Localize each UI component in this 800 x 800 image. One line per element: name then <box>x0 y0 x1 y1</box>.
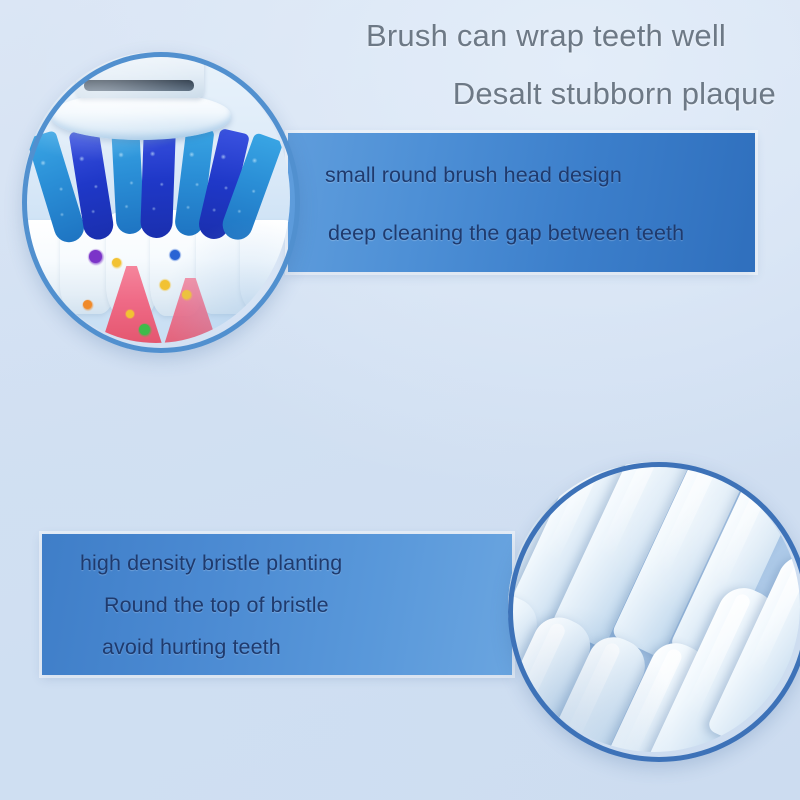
bristle-macro-photo <box>508 462 800 752</box>
product-feature-poster: Brush can wrap teeth well Desalt stubbor… <box>0 0 800 800</box>
feature-banner-bottom: high density bristle planting Round the … <box>42 534 512 675</box>
photo-gloss-overlay <box>508 462 800 752</box>
banner-top-text: small round brush head design deep clean… <box>288 133 755 272</box>
banner-bottom-text: high density bristle planting Round the … <box>42 534 512 675</box>
banner-bottom-line-1: high density bristle planting <box>80 551 342 576</box>
photo-gloss-overlay <box>22 52 290 343</box>
headline-line-1: Brush can wrap teeth well <box>366 18 726 54</box>
banner-bottom-line-3: avoid hurting teeth <box>102 635 281 660</box>
banner-top-line-2: deep cleaning the gap between teeth <box>328 221 684 246</box>
banner-top-line-1: small round brush head design <box>325 163 622 188</box>
brush-head-teeth-photo <box>22 52 290 343</box>
feature-banner-top: small round brush head design deep clean… <box>288 133 755 272</box>
banner-bottom-line-2: Round the top of bristle <box>104 593 329 618</box>
headline-line-2: Desalt stubborn plaque <box>453 76 776 112</box>
